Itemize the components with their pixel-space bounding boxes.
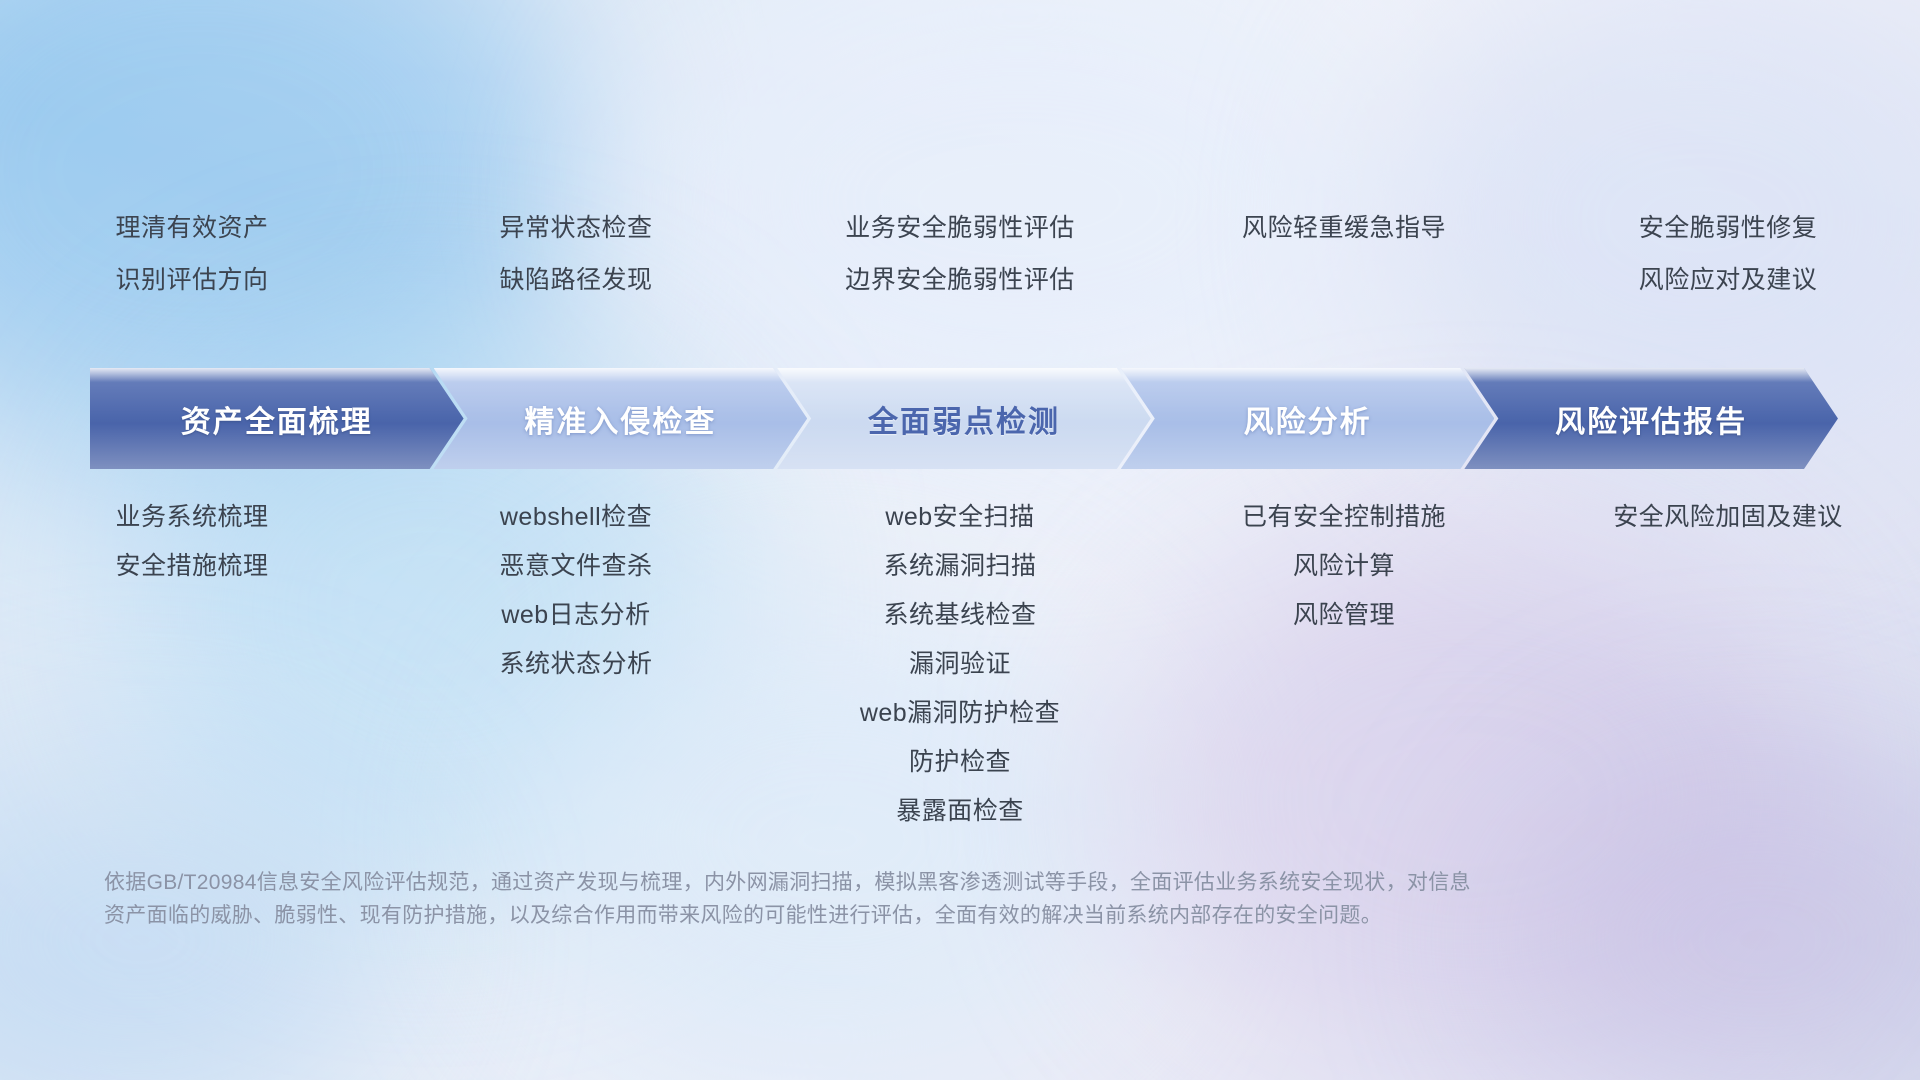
stage-arrow-4[interactable]: 风险分析 (1121, 368, 1495, 469)
stage-outcomes-cell: 理清有效资产识别评估方向 (0, 216, 384, 320)
outcome-label: 业务安全脆弱性评估 (845, 216, 1075, 241)
stage-outcomes-cell: 异常状态检查缺陷路径发现 (384, 216, 768, 320)
outcome-label: 安全脆弱性修复 (1639, 216, 1818, 241)
stage-arrow-2[interactable]: 精准入侵检查 (434, 368, 808, 469)
stage-outcomes-cell: 风险轻重缓急指导 (1152, 216, 1536, 320)
activity-label: 系统状态分析 (499, 652, 652, 677)
activity-label: web漏洞防护检查 (860, 701, 1060, 726)
activity-label: 系统漏洞扫描 (883, 554, 1036, 579)
activity-label: 风险管理 (1293, 603, 1395, 628)
stage-activities-cell: 已有安全控制措施风险计算风险管理 (1152, 505, 1536, 848)
stage-title: 精准入侵检查 (524, 397, 716, 441)
outcome-label: 理清有效资产 (115, 216, 268, 241)
stage-activities-cell: 业务系统梳理安全措施梳理 (0, 505, 384, 848)
outcome-label: 边界安全脆弱性评估 (845, 268, 1075, 293)
stage-outcomes-row: 理清有效资产识别评估方向异常状态检查缺陷路径发现业务安全脆弱性评估边界安全脆弱性… (0, 216, 1920, 320)
stage-outcomes-cell: 业务安全脆弱性评估边界安全脆弱性评估 (768, 216, 1152, 320)
outcome-label: 风险轻重缓急指导 (1242, 216, 1446, 241)
stage-activities-cell: webshell检查恶意文件查杀web日志分析系统状态分析 (384, 505, 768, 848)
stage-title: 风险分析 (1244, 397, 1372, 441)
description-line-1: 依据GB/T20984信息安全风险评估规范，通过资产发现与梳理，内外网漏洞扫描，… (104, 866, 1784, 899)
activity-label: 安全风险加固及建议 (1613, 505, 1843, 530)
description-line-2: 资产面临的威胁、脆弱性、现有防护措施，以及综合作用而带来风险的可能性进行评估，全… (104, 899, 1784, 932)
activity-label: webshell检查 (500, 505, 652, 530)
activity-label: 防护检查 (909, 750, 1011, 775)
activity-label: 恶意文件查杀 (499, 554, 652, 579)
stage-activities-row: 业务系统梳理安全措施梳理webshell检查恶意文件查杀web日志分析系统状态分… (0, 505, 1920, 848)
outcome-label: 异常状态检查 (499, 216, 652, 241)
stage-outcomes-cell: 安全脆弱性修复风险应对及建议 (1536, 216, 1920, 320)
stage-arrow-1[interactable]: 资产全面梳理 (90, 368, 464, 469)
stage-activities-cell: 安全风险加固及建议 (1536, 505, 1920, 848)
stage-activities-cell: web安全扫描系统漏洞扫描系统基线检查漏洞验证web漏洞防护检查防护检查暴露面检… (768, 505, 1152, 848)
activity-label: 暴露面检查 (896, 799, 1024, 824)
stage-arrow-5[interactable]: 风险评估报告 (1464, 368, 1838, 469)
activity-label: 业务系统梳理 (115, 505, 268, 530)
activity-label: 风险计算 (1293, 554, 1395, 579)
process-flow-diagram: 理清有效资产识别评估方向异常状态检查缺陷路径发现业务安全脆弱性评估边界安全脆弱性… (0, 0, 1920, 1080)
description-paragraph: 依据GB/T20984信息安全风险评估规范，通过资产发现与梳理，内外网漏洞扫描，… (104, 866, 1784, 932)
activity-label: 已有安全控制措施 (1242, 505, 1446, 530)
stage-arrow-band: 资产全面梳理精准入侵检查全面弱点检测风险分析风险评估报告 (90, 368, 1838, 469)
stage-title: 全面弱点检测 (868, 397, 1060, 441)
stage-title: 风险评估报告 (1555, 397, 1747, 441)
activity-label: 系统基线检查 (883, 603, 1036, 628)
outcome-label: 识别评估方向 (115, 268, 268, 293)
activity-label: 安全措施梳理 (115, 554, 268, 579)
activity-label: web安全扫描 (885, 505, 1034, 530)
stage-arrow-3[interactable]: 全面弱点检测 (777, 368, 1151, 469)
activity-label: 漏洞验证 (909, 652, 1011, 677)
stage-title: 资产全面梳理 (181, 397, 373, 441)
outcome-label: 缺陷路径发现 (499, 268, 652, 293)
outcome-label: 风险应对及建议 (1639, 268, 1818, 293)
activity-label: web日志分析 (501, 603, 650, 628)
